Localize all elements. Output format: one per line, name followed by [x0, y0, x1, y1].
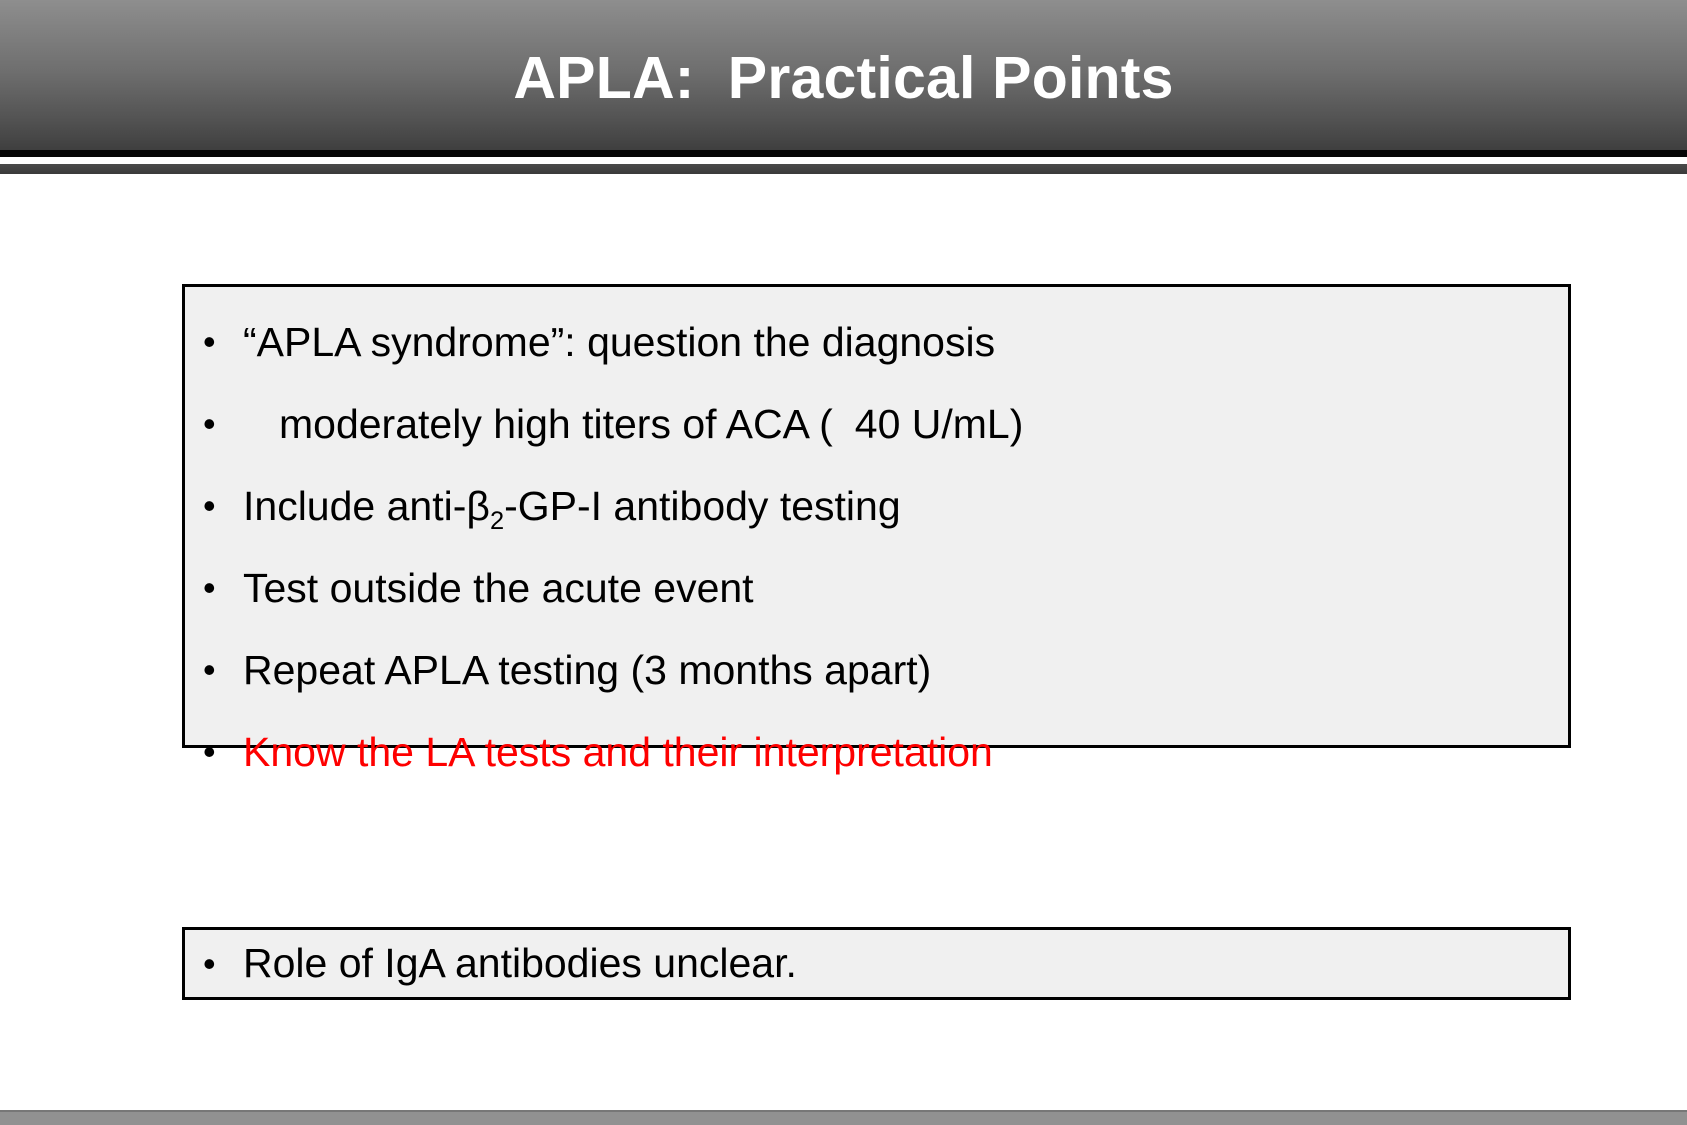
secondary-content-box: •Role of IgA antibodies unclear.: [182, 927, 1571, 1000]
header-divider-gray: [0, 164, 1687, 174]
list-item-moderately-high-titers: •moderately high titers of ACA (40 U/mL): [185, 383, 1568, 465]
header-divider-black: [0, 150, 1687, 157]
bullet-text: Repeat APLA testing (3 months apart): [243, 650, 931, 691]
main-content-box: •“APLA syndrome”: question the diagnosis…: [182, 284, 1571, 748]
bullet-marker-icon: •: [199, 946, 243, 982]
list-item-anti-b2-gpi: •Include anti-β2-GP-I antibody testing: [185, 465, 1568, 547]
bullet-marker-icon: •: [199, 570, 243, 606]
list-item-know-la-tests: •Know the LA tests and their interpretat…: [185, 711, 1568, 793]
slide-footer-bar: [0, 1110, 1687, 1125]
list-item-role-of-iga: •Role of IgA antibodies unclear.: [185, 930, 1568, 997]
bullet-text: Know the LA tests and their interpretati…: [243, 732, 993, 773]
bullet-text: “APLA syndrome”: question the diagnosis: [243, 322, 995, 363]
list-item-test-outside-acute-event: •Test outside the acute event: [185, 547, 1568, 629]
bullet-marker-icon: •: [199, 488, 243, 524]
bullet-marker-icon: •: [199, 324, 243, 360]
subscript: 2: [490, 507, 504, 535]
bullet-marker-icon: •: [199, 406, 243, 442]
page-title: APLA: Practical Points: [513, 49, 1173, 108]
bullet-marker-icon: •: [199, 652, 243, 688]
bullet-marker-icon: •: [199, 734, 243, 770]
bullet-text: moderately high titers of ACA (40 U/mL): [243, 404, 1023, 445]
header-divider-white-gap: [0, 157, 1687, 164]
list-item-repeat-apla-testing: •Repeat APLA testing (3 months apart): [185, 629, 1568, 711]
bullet-text: Include anti-β2-GP-I antibody testing: [243, 486, 901, 527]
list-item-apla-syndrome: •“APLA syndrome”: question the diagnosis: [185, 301, 1568, 383]
slide-header: APLA: Practical Points: [0, 0, 1687, 150]
bullet-text: Test outside the acute event: [243, 568, 754, 609]
bullet-text: Role of IgA antibodies unclear.: [243, 943, 797, 984]
